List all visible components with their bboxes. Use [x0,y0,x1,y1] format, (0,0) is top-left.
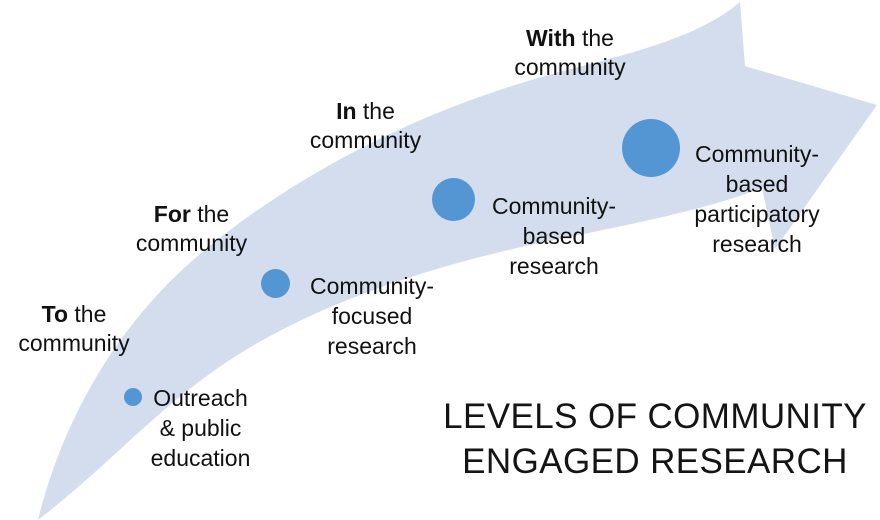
stage-dot-1 [124,388,142,406]
stage-type-label-1: Outreach & public education [143,384,258,474]
stage-type-line-2-3: based [523,223,586,249]
stage-type-line-2-1: & public [160,415,242,441]
stage-dot-3 [432,178,475,221]
stage-type-line-4-4: research [712,231,801,257]
stage-preposition-line2-2: community [136,230,247,256]
stage-preposition-label-4: With the community [478,24,662,82]
stage-preposition-rest-2: the [191,201,229,227]
diagram-canvas: To the community For the community In th… [0,0,880,520]
stage-type-line-3-2: research [327,333,416,359]
stage-type-label-2: Community- focused research [296,272,448,362]
stage-type-label-4: Community- based participatory research [678,140,836,260]
stage-preposition-keyword-1: To [42,301,68,327]
stage-type-line-1-3: Community- [492,193,616,219]
diagram-title: LEVELS OF COMMUNITY ENGAGED RESEARCH [430,395,880,485]
diagram-title-line-1: LEVELS OF COMMUNITY [443,397,867,436]
stage-type-line-1-2: Community- [310,273,434,299]
stage-type-label-3: Community- based research [478,192,630,282]
stage-preposition-line2-4: community [514,54,625,80]
stage-preposition-label-2: For the community [104,200,279,258]
stage-type-line-1-1: Outreach [153,385,248,411]
stage-preposition-line2-1: community [18,330,129,356]
stage-type-line-3-3: research [509,253,598,279]
stage-dot-2 [261,269,290,298]
stage-type-line-1-4: Community- [695,141,819,167]
stage-preposition-keyword-2: For [154,201,191,227]
stage-preposition-rest-1: the [68,301,106,327]
diagram-title-line-2: ENGAGED RESEARCH [462,442,848,481]
stage-preposition-keyword-3: In [336,98,356,124]
stage-type-line-3-1: education [151,445,251,471]
stage-preposition-rest-3: the [357,98,395,124]
stage-preposition-rest-4: the [576,25,614,51]
stage-preposition-label-1: To the community [0,300,148,358]
stage-preposition-keyword-4: With [526,25,576,51]
stage-preposition-line2-3: community [310,127,421,153]
stage-type-line-3-4: participatory [694,201,819,227]
stage-dot-4 [622,119,680,177]
stage-preposition-label-3: In the community [278,97,453,155]
stage-type-line-2-4: based [726,171,789,197]
stage-type-line-2-2: focused [332,303,413,329]
